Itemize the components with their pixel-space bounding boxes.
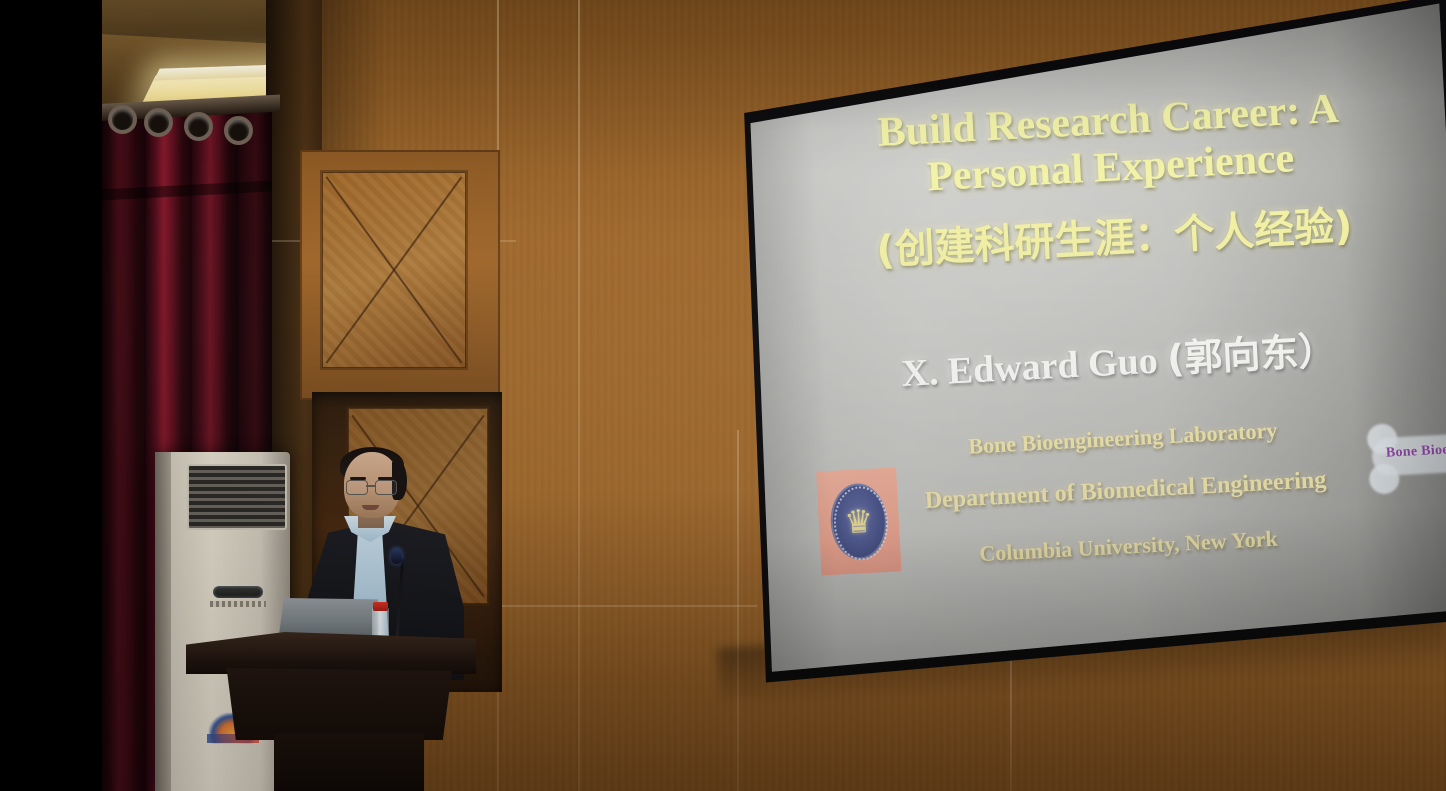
speaker-mouth [362, 505, 379, 510]
curtain-ring [224, 116, 253, 145]
air-conditioner [155, 452, 290, 791]
lecture-hall-room: Build Research Career: A Personal Experi… [0, 0, 1446, 791]
air-conditioner-side [155, 452, 171, 791]
bone-knob [1369, 463, 1401, 495]
wall-seam [578, 0, 580, 791]
letterbox-bar-left [0, 0, 102, 791]
wall-seam [737, 430, 739, 791]
apple-logo-icon [318, 618, 333, 635]
water-bottle-cap [373, 602, 388, 611]
curtain-ring [144, 108, 173, 137]
podium-base [274, 734, 424, 791]
wall-panel-upper-inset [322, 172, 466, 368]
eyeglass-lens-left [346, 480, 368, 495]
air-conditioner-buttons[interactable] [210, 601, 266, 607]
presentation-photo-scene: Build Research Career: A Personal Experi… [0, 0, 1446, 791]
eyeglass-lens-right [375, 480, 397, 495]
wall-horizontal-seam [497, 605, 757, 607]
projection-screen: Build Research Career: A Personal Experi… [721, 0, 1446, 691]
slide-title-chinese: (创建科研生涯：个人经验) [784, 199, 1445, 277]
curtain-ring [184, 112, 213, 141]
slide-affiliation-line1: Bone Bioengineering Laboratory [783, 408, 1446, 470]
curtain-ring [108, 105, 137, 134]
air-conditioner-display [213, 586, 263, 598]
slide-author: X. Edward Guo (郭向东） [778, 324, 1446, 402]
slide-author-english: X. Edward Guo [900, 339, 1168, 395]
podium-body [222, 668, 452, 740]
slide-author-chinese: (郭向东） [1166, 328, 1337, 381]
speaker-eyeglasses [346, 480, 398, 493]
air-conditioner-vent-grille [187, 464, 287, 530]
eyeglass-bridge [366, 485, 375, 487]
bone-bioengineering-logo: Bone Bioen [1370, 410, 1446, 509]
microphone-head [391, 548, 402, 564]
